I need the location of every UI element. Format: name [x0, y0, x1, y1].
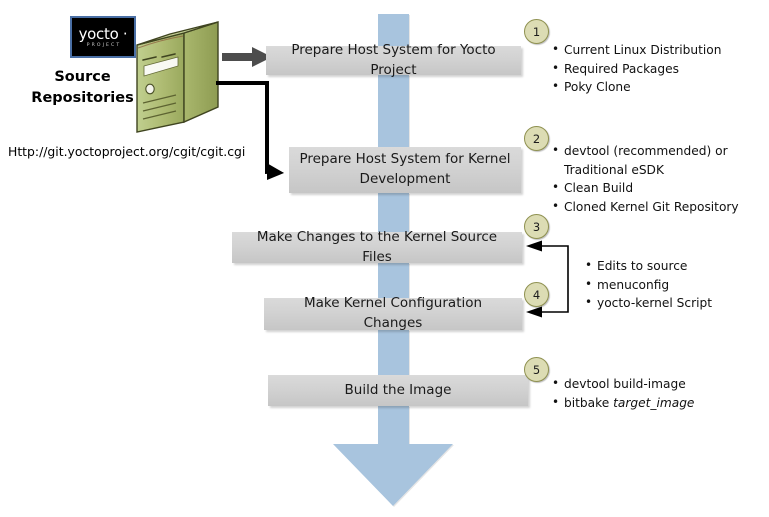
source-label-line2: Repositories — [20, 88, 145, 109]
source-server-icon — [132, 20, 224, 140]
step4-number: 4 — [533, 288, 540, 302]
connector-bracket-step3-step4-icon — [524, 240, 586, 320]
step5-note-item: bitbake target_image — [552, 394, 694, 413]
step5-note-item: devtool build-image — [552, 375, 694, 394]
flow-end-arrow-icon — [333, 444, 453, 506]
step2-box-label-line1: Prepare Host System for Kernel — [299, 150, 510, 170]
step2-note-item: Clean Build — [552, 179, 739, 198]
logo-subtext: PROJECT — [87, 44, 122, 49]
yocto-project-logo: yocto · PROJECT — [70, 16, 136, 58]
step5-box-label: Build the Image — [345, 381, 452, 401]
step2-box-label-line2: Development — [360, 170, 451, 190]
shared-note-item: Edits to source — [585, 257, 712, 276]
flow-spine-3-4 — [378, 263, 409, 298]
step2-number: 2 — [533, 132, 540, 146]
step3-box-label: Make Changes to the Kernel Source Files — [242, 228, 512, 267]
step5-notes: devtool build-image bitbake target_image — [552, 375, 694, 412]
step2-note-item-continuation: Traditional eSDK — [552, 161, 739, 180]
flow-spine-4-5 — [378, 330, 409, 375]
step2-notes: devtool (recommended) or Traditional eSD… — [552, 142, 739, 216]
source-label-line1: Source — [20, 67, 145, 88]
step3-step4-shared-notes: Edits to source menuconfig yocto-kernel … — [585, 257, 712, 313]
diagram-canvas: yocto · PROJECT Source Repositories Http… — [0, 0, 769, 517]
step2-number-badge: 2 — [524, 126, 549, 151]
logo-wordmark: yocto · — [79, 27, 128, 42]
step3-number: 3 — [533, 220, 540, 234]
connector-server-to-step2-icon — [216, 78, 284, 180]
step5-number: 5 — [533, 363, 540, 377]
step1-number: 1 — [533, 25, 540, 39]
step5-box[interactable]: Build the Image — [268, 375, 528, 406]
step1-note-item: Required Packages — [552, 60, 721, 79]
shared-note-item: menuconfig — [585, 276, 712, 295]
step4-box[interactable]: Make Kernel Configuration Changes — [264, 298, 522, 330]
step2-note-item: devtool (recommended) or — [552, 142, 739, 161]
step4-box-label: Make Kernel Configuration Changes — [274, 294, 512, 333]
step2-note-item: Cloned Kernel Git Repository — [552, 198, 739, 217]
step4-number-badge: 4 — [524, 282, 549, 307]
step5-note-italic-arg: target_image — [613, 396, 694, 410]
step1-box[interactable]: Prepare Host System for Yocto Project — [266, 46, 521, 75]
flow-spine-bottom — [378, 406, 409, 446]
step5-number-badge: 5 — [524, 357, 549, 382]
step5-note-prefix: bitbake — [564, 396, 613, 410]
flow-spine-1-2 — [378, 75, 409, 147]
step3-number-badge: 3 — [524, 214, 549, 239]
source-repositories-label: Source Repositories — [20, 67, 145, 109]
shared-note-item: yocto-kernel Script — [585, 294, 712, 313]
step2-box[interactable]: Prepare Host System for Kernel Developme… — [289, 147, 521, 193]
step1-notes: Current Linux Distribution Required Pack… — [552, 41, 721, 97]
step1-note-item: Poky Clone — [552, 78, 721, 97]
step1-number-badge: 1 — [524, 19, 549, 44]
step3-box[interactable]: Make Changes to the Kernel Source Files — [232, 232, 522, 263]
step1-note-item: Current Linux Distribution — [552, 41, 721, 60]
flow-spine-2-3 — [378, 193, 409, 232]
source-repository-url: Http://git.yoctoproject.org/cgit/cgit.cg… — [8, 144, 245, 159]
step1-box-label: Prepare Host System for Yocto Project — [276, 41, 511, 80]
